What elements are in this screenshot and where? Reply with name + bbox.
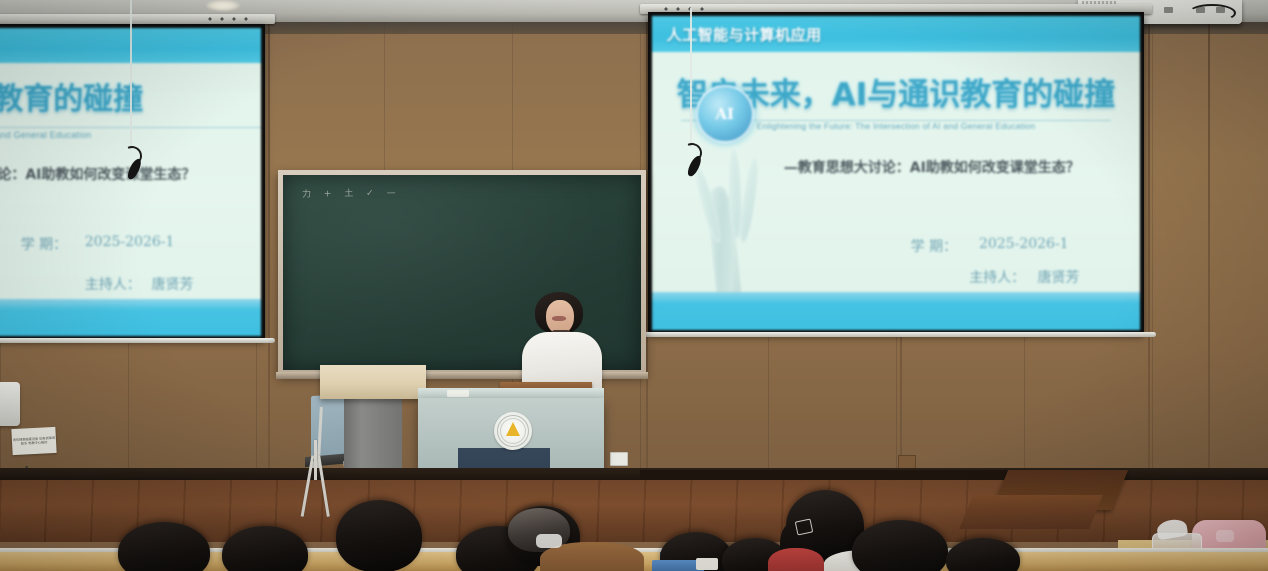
right-slide-surface: 人工智能与计算机应用 智启未来，AI与通识教育的碰撞 Enlightening …: [652, 16, 1140, 330]
ceiling-light-icon: [206, 0, 240, 11]
left-projection-screen: 与通识教育的碰撞 ntersection of AI and General E…: [0, 24, 265, 340]
audience-head: [222, 526, 308, 571]
left-slide-subtitle: ntersection of AI and General Education: [0, 130, 192, 140]
university-crest-emblem: [494, 412, 532, 450]
audience-row: [0, 462, 1268, 571]
side-table: [320, 365, 426, 399]
left-slide-question: 讨论：AI助教如何改变课堂生态？: [0, 164, 195, 184]
podium-paper: [447, 390, 469, 397]
projector-cable: [1188, 4, 1236, 22]
right-slide-host-label: 主持人：: [969, 267, 1025, 287]
right-slide-question: —教育思想大讨论：AI助教如何改变课堂生态？: [784, 157, 1080, 177]
lecture-hall-photo: 与通识教育的碰撞 ntersection of AI and General E…: [0, 0, 1268, 571]
crest-gold-mark-icon: [506, 422, 520, 436]
speaker-mouth: [552, 316, 566, 321]
wall-seam: [1148, 18, 1150, 488]
left-screen-weight-bar: [0, 338, 275, 343]
roller-control-icon: [206, 17, 252, 21]
audience-head: [946, 538, 1020, 571]
wall-notice-sign: 请勿随意触摸设备 如有故障请联系 电教中心报修: [11, 427, 56, 455]
paper-sheet: [696, 558, 718, 570]
audience-red-jacket: [768, 548, 824, 571]
right-slide-host-value: 唐贤芳: [1038, 267, 1080, 287]
blackboard-chalk-writing: 力 + 土 ✓ —: [302, 185, 401, 200]
left-slide-footer-band: [0, 299, 261, 336]
left-slide-host-label: 主持人：: [85, 274, 141, 294]
wall-speaker: [0, 382, 20, 426]
face-mask: [536, 534, 562, 548]
right-projection-screen: 人工智能与计算机应用 智启未来，AI与通识教育的碰撞 Enlightening …: [648, 12, 1144, 334]
ai-badge-icon: AI: [696, 85, 754, 143]
right-mic-cable: [690, 8, 692, 148]
right-slide-term-value: 2025-2026-1: [979, 236, 1069, 252]
left-mic-cable: [130, 0, 132, 150]
wall-seam: [1208, 18, 1210, 488]
audience-head: [852, 520, 948, 571]
right-slide-footer-band: [652, 292, 1140, 330]
left-screen-roller[interactable]: [0, 14, 275, 24]
left-slide-host-value: 唐贤芳: [152, 274, 194, 294]
audience-head: [336, 500, 422, 571]
left-slide-main-title: 与通识教育的碰撞: [0, 74, 170, 118]
right-slide-term-label: 学 期：: [911, 236, 957, 256]
wall-seam: [268, 18, 270, 488]
left-slide-term-value: 2025-2026-1: [85, 234, 175, 250]
right-screen-weight-bar: [640, 332, 1156, 337]
audience-head: [118, 522, 210, 571]
roller-control-icon: [662, 7, 708, 11]
left-slide-term-label: 学 期：: [21, 234, 67, 254]
wall-notice-text: 请勿随意触摸设备 如有故障请联系 电教中心报修: [12, 436, 56, 446]
projector-knob-icon: [1164, 7, 1173, 13]
